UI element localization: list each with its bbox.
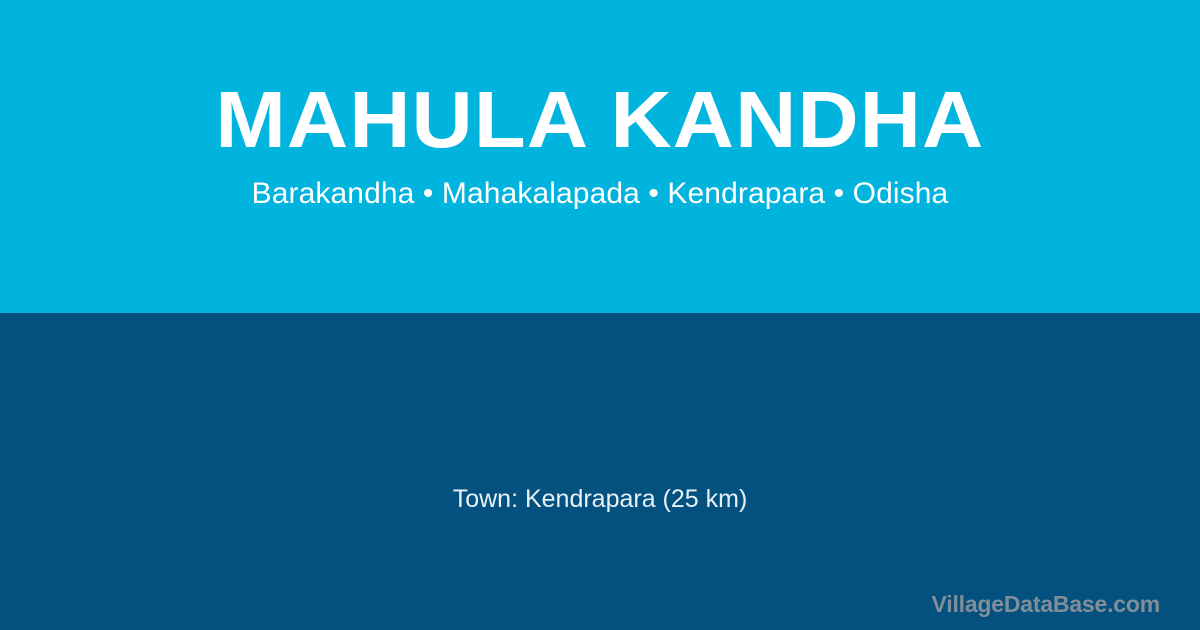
site-watermark: VillageDataBase.com bbox=[932, 590, 1160, 618]
detail-panel bbox=[0, 313, 1200, 630]
breadcrumb: Barakandha • Mahakalapada • Kendrapara •… bbox=[252, 176, 949, 212]
page-title: MAHULA KANDHA bbox=[215, 78, 984, 162]
header-content: MAHULA KANDHA Barakandha • Mahakalapada … bbox=[0, 0, 1200, 313]
nearest-town-text: Town: Kendrapara (25 km) bbox=[0, 484, 1200, 514]
village-info-card: MAHULA KANDHA Barakandha • Mahakalapada … bbox=[0, 0, 1200, 630]
